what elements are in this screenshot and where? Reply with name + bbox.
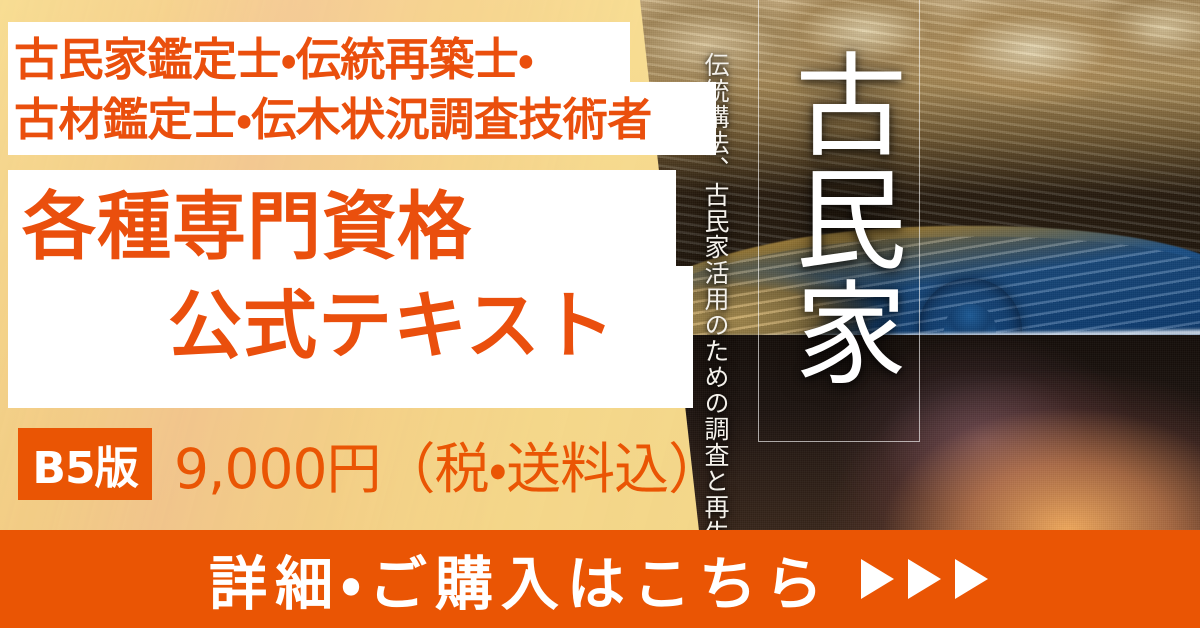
cta-bar[interactable]: 詳細・ご購入はこちら (0, 530, 1200, 628)
price-text: 9,000円（税・送料込） (174, 424, 722, 504)
main-title-line-1: 各種専門資格 (0, 178, 690, 277)
main-title: 各種専門資格 公式テキスト (0, 178, 690, 376)
format-badge: B5版 (18, 428, 152, 500)
main-title-line-2: 公式テキスト (0, 277, 690, 376)
play-triangle-icon (904, 556, 944, 602)
play-triangle-icon (857, 556, 897, 602)
play-triangle-icon (951, 556, 991, 602)
book-cover-title: 古民家 (768, 8, 908, 428)
headline-line-1: 古民家鑑定士・伝統再築士・ (14, 30, 714, 90)
cta-arrow-group (857, 556, 991, 602)
promo-banner: 古民家 伝統構法、古民家活用のための調査と再生 古民家鑑定士・伝統再築士・ 古材… (0, 0, 1200, 628)
price-row: B5版 9,000円（税・送料込） (18, 427, 722, 501)
headline-line-2: 古材鑑定士・伝木状況調査技術者 (14, 90, 714, 150)
cta-label: 詳細・ご購入はこちら (209, 537, 831, 621)
headline: 古民家鑑定士・伝統再築士・ 古材鑑定士・伝木状況調査技術者 (14, 30, 714, 150)
